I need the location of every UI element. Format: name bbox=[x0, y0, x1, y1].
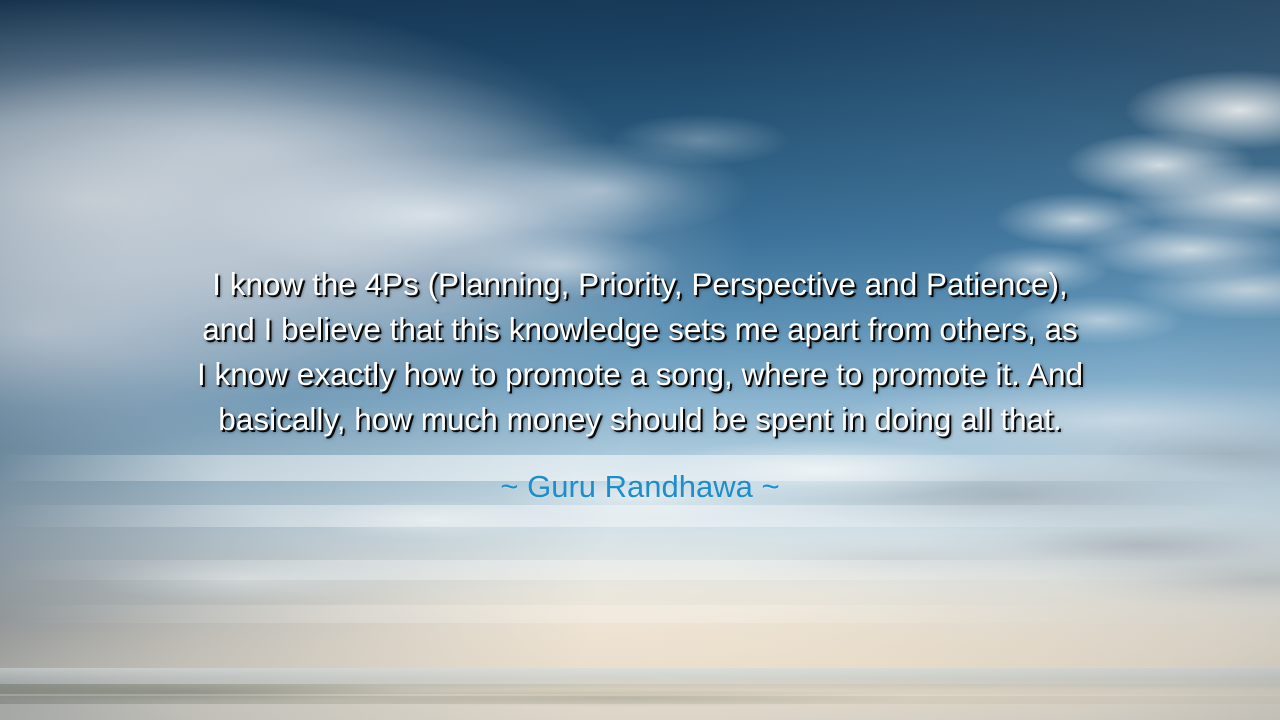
quote-text-block: I know the 4Ps (Planning, Priority, Pers… bbox=[0, 0, 1280, 720]
quote-image-canvas: I know the 4Ps (Planning, Priority, Pers… bbox=[0, 0, 1280, 720]
quote-author-attribution: ~ Guru Randhawa ~ bbox=[500, 468, 779, 506]
quote-body-text: I know the 4Ps (Planning, Priority, Pers… bbox=[80, 262, 1200, 442]
